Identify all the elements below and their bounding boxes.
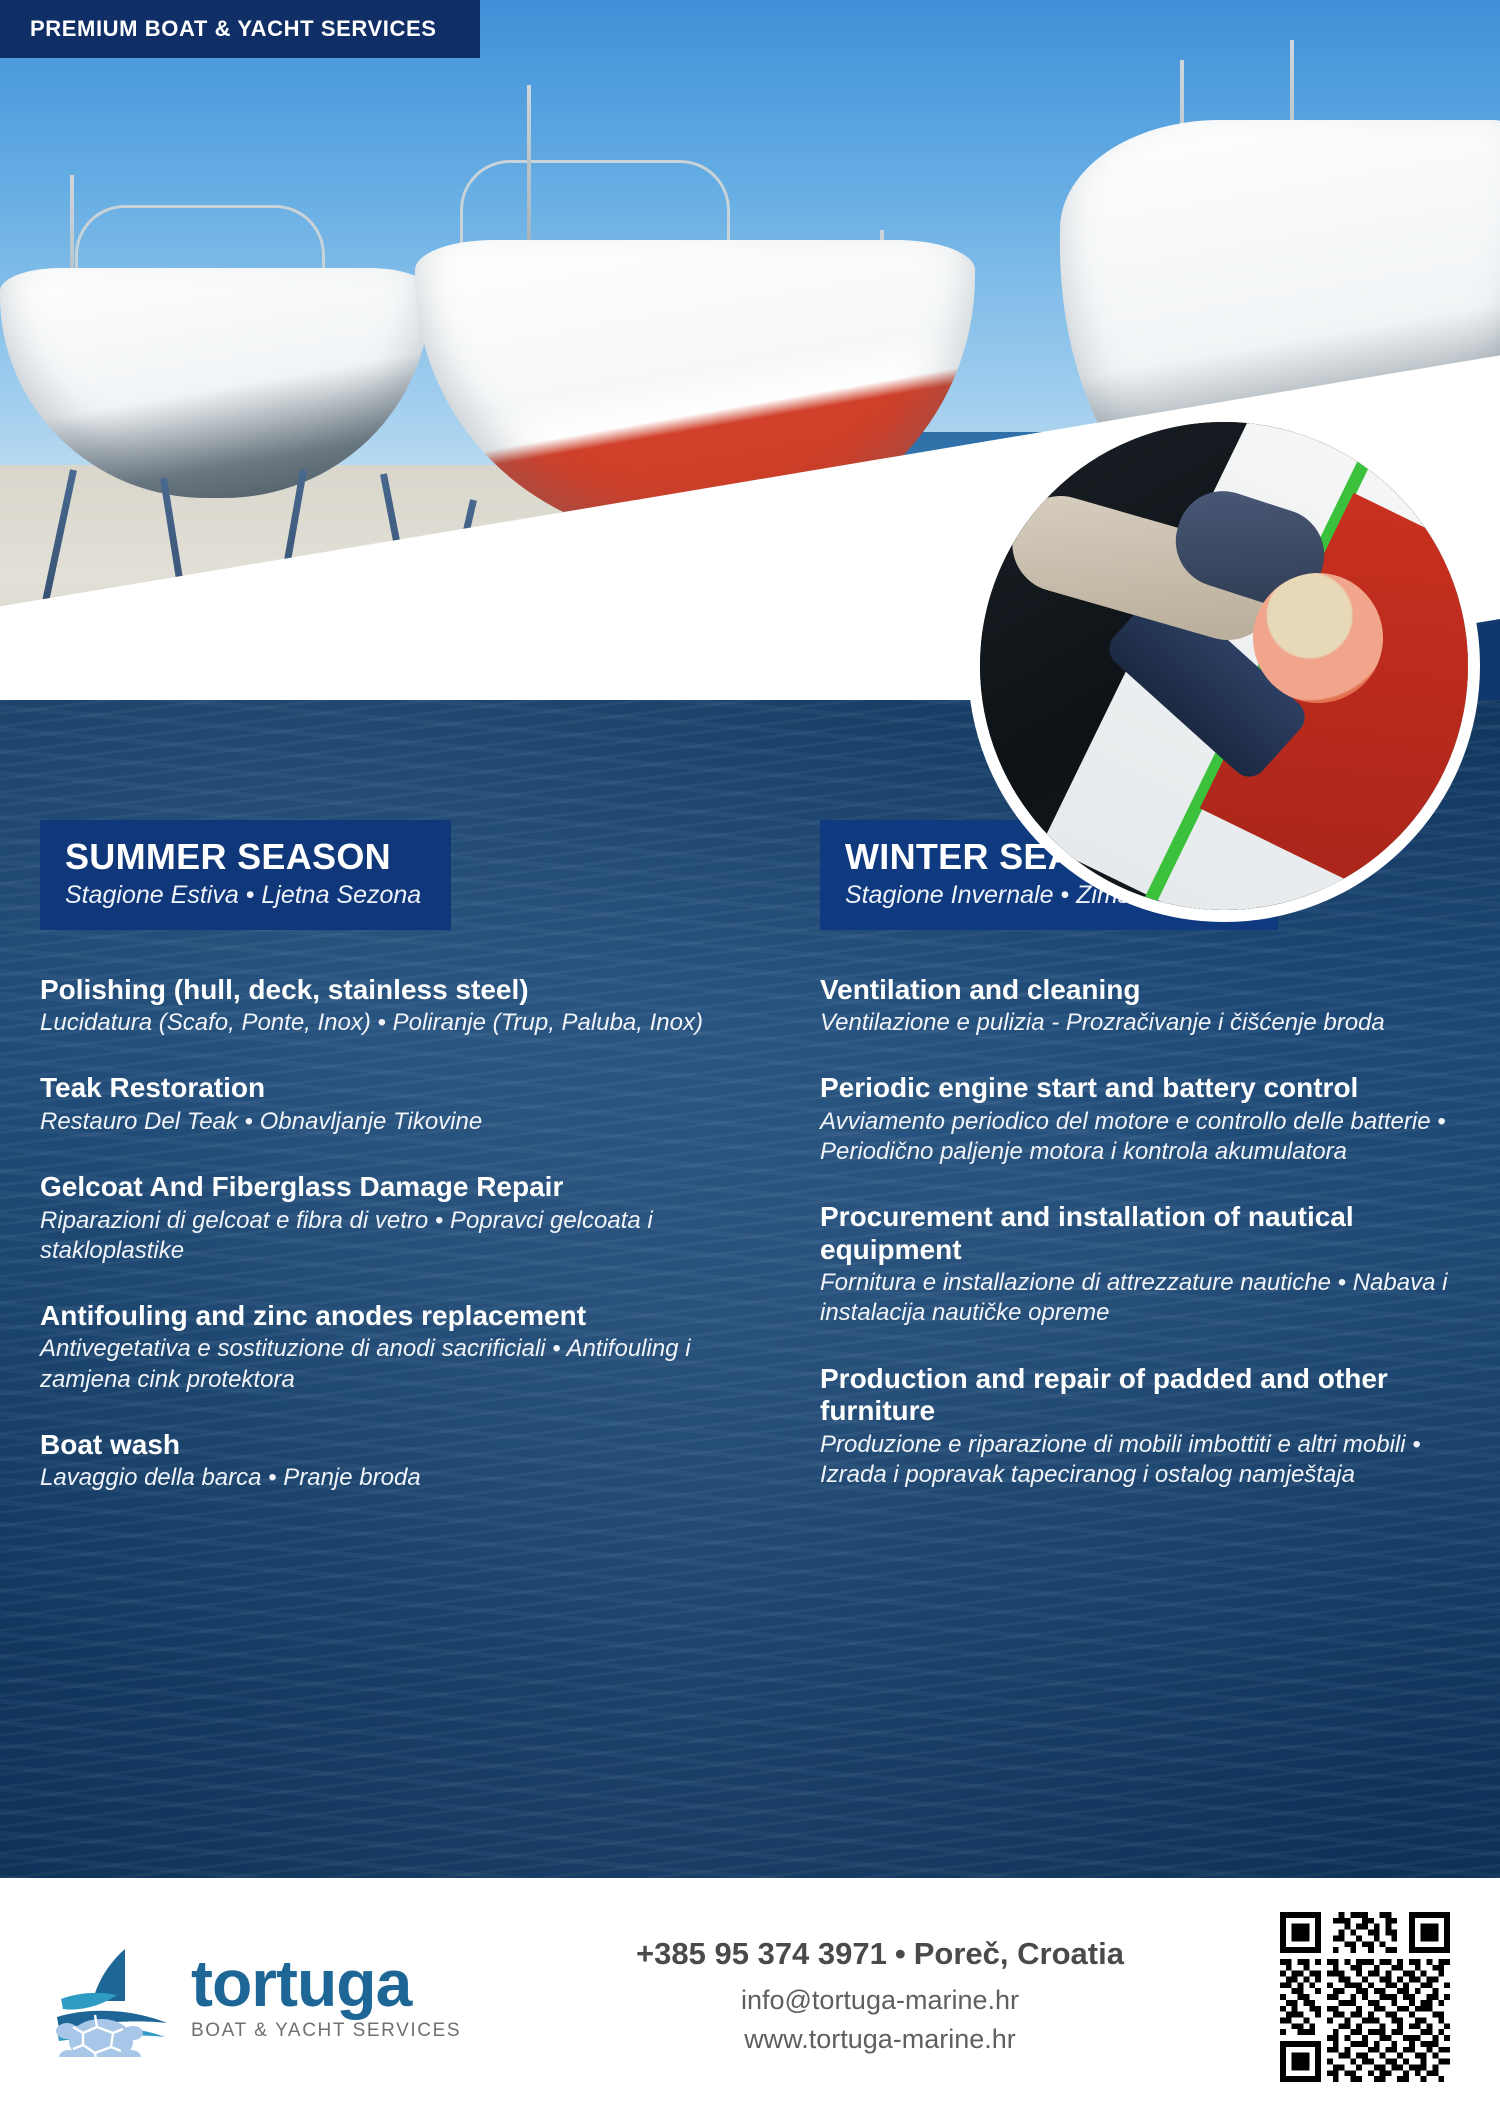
- location-label: Poreč, Croatia: [914, 1936, 1124, 1971]
- service-name: Boat wash: [40, 1429, 730, 1461]
- website-url[interactable]: www.tortuga-marine.hr: [744, 2020, 1016, 2058]
- email-address[interactable]: info@tortuga-marine.hr: [741, 1981, 1019, 2019]
- logo-wordmark: tortuga BOAT & YACHT SERVICES: [191, 1952, 461, 2042]
- service-name: Production and repair of padded and othe…: [820, 1363, 1460, 1428]
- summer-season-title: SUMMER SEASON: [65, 838, 421, 877]
- service-item: Gelcoat And Fiberglass Damage Repair Rip…: [40, 1171, 730, 1266]
- service-description: Produzione e riparazione di mobili imbot…: [820, 1430, 1460, 1490]
- summer-season-column: SUMMER SEASON Stagione Estiva • Ljetna S…: [0, 820, 760, 1880]
- top-banner: PREMIUM BOAT & YACHT SERVICES: [0, 0, 480, 58]
- service-description: Fornitura e installazione di attrezzatur…: [820, 1268, 1460, 1328]
- service-description: Ventilazione e pulizia - Prozračivanje i…: [820, 1008, 1460, 1038]
- top-banner-label: PREMIUM BOAT & YACHT SERVICES: [30, 16, 437, 42]
- service-description: Avviamento periodico del motore e contro…: [820, 1107, 1460, 1167]
- service-item: Periodic engine start and battery contro…: [820, 1072, 1460, 1167]
- service-description: Lavaggio della barca • Pranje broda: [40, 1463, 730, 1493]
- service-description: Restauro Del Teak • Obnavljanje Tikovine: [40, 1107, 730, 1137]
- contact-block: +385 95 374 3971•Poreč, Croatia info@tor…: [520, 1936, 1280, 2058]
- service-item: Ventilation and cleaning Ventilazione e …: [820, 974, 1460, 1039]
- service-item: Polishing (hull, deck, stainless steel) …: [40, 974, 730, 1039]
- service-description: Lucidatura (Scafo, Ponte, Inox) • Polira…: [40, 1008, 730, 1038]
- polishing-inset-photo: [968, 410, 1480, 922]
- company-logo: tortuga BOAT & YACHT SERVICES: [0, 1937, 520, 2057]
- services-columns: SUMMER SEASON Stagione Estiva • Ljetna S…: [0, 820, 1500, 1880]
- summer-season-subtitle: Stagione Estiva • Ljetna Sezona: [65, 881, 421, 910]
- service-description: Riparazioni di gelcoat e fibra di vetro …: [40, 1206, 730, 1266]
- service-description: Antivegetativa e sostituzione di anodi s…: [40, 1334, 730, 1394]
- summer-season-header: SUMMER SEASON Stagione Estiva • Ljetna S…: [40, 820, 451, 930]
- service-item: Production and repair of padded and othe…: [820, 1363, 1460, 1490]
- service-item: Antifouling and zinc anodes replacement …: [40, 1300, 730, 1395]
- service-name: Gelcoat And Fiberglass Damage Repair: [40, 1171, 730, 1203]
- footer: tortuga BOAT & YACHT SERVICES +385 95 37…: [0, 1878, 1500, 2116]
- phone-number[interactable]: +385 95 374 3971: [636, 1936, 887, 1971]
- logo-tagline: BOAT & YACHT SERVICES: [191, 2020, 461, 2042]
- service-name: Periodic engine start and battery contro…: [820, 1072, 1460, 1104]
- service-name: Teak Restoration: [40, 1072, 730, 1104]
- service-item: Procurement and installation of nautical…: [820, 1201, 1460, 1328]
- tortuga-sailboat-turtle-icon: [55, 1937, 175, 2057]
- service-name: Polishing (hull, deck, stainless steel): [40, 974, 730, 1006]
- qr-code[interactable]: [1280, 1912, 1450, 2082]
- winter-season-column: WINTER SEASON Stagione Invernale • Zimsk…: [760, 820, 1500, 1880]
- flyer-root: PREMIUM BOAT & YACHT SERVICES SUMMER SEA…: [0, 0, 1500, 2116]
- service-name: Antifouling and zinc anodes replacement: [40, 1300, 730, 1332]
- service-item: Boat wash Lavaggio della barca • Pranje …: [40, 1429, 730, 1494]
- phone-and-location: +385 95 374 3971•Poreč, Croatia: [636, 1936, 1124, 1972]
- service-name: Procurement and installation of nautical…: [820, 1201, 1460, 1266]
- service-item: Teak Restoration Restauro Del Teak • Obn…: [40, 1072, 730, 1137]
- separator-dot: •: [887, 1936, 914, 1971]
- service-name: Ventilation and cleaning: [820, 974, 1460, 1006]
- logo-word: tortuga: [191, 1952, 461, 2015]
